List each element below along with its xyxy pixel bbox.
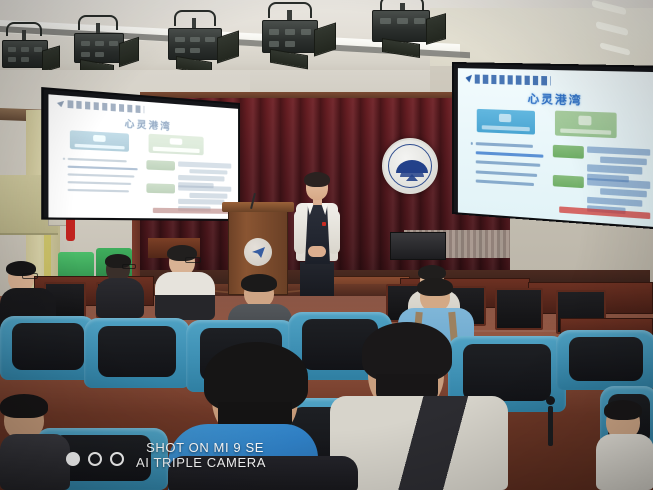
auditorium-chair[interactable]: [556, 330, 653, 390]
slide-tag-b: [553, 175, 583, 189]
list-item: [96, 256, 146, 316]
slide-right: 心灵港湾: [458, 68, 653, 227]
photo-canvas: 心灵港湾: [0, 0, 653, 490]
slide-tag-a: [553, 145, 583, 159]
presenter-badge: [322, 222, 326, 226]
camera-lens-dots-icon: [66, 451, 134, 467]
projection-screen-right: 心灵港湾: [452, 62, 653, 230]
list-item: [596, 404, 653, 490]
slide-bullets: [471, 141, 545, 192]
watermark-line-1: SHOT ON MI 9 SE: [136, 441, 264, 456]
podium-emblem-icon: [244, 238, 272, 266]
podium-top: [222, 202, 294, 212]
auditorium-chair[interactable]: [0, 316, 96, 380]
back-desk-chair: [495, 288, 543, 330]
watermark-line-2: AI TRIPLE CAMERA: [136, 456, 264, 471]
camera-watermark: SHOT ON MI 9 SE AI TRIPLE CAMERA: [60, 441, 260, 483]
list-item: [155, 248, 217, 320]
slide-title: 心灵港湾: [458, 88, 653, 111]
stage-monitor-box: [390, 232, 446, 260]
slide-logo-icon: [465, 73, 551, 88]
university-emblem-icon: [382, 138, 438, 194]
slide-card-green: [555, 110, 617, 138]
projection-screen-left: 心灵港湾: [41, 87, 240, 221]
presenter: [286, 174, 348, 296]
slide-card-blue: [477, 109, 535, 135]
